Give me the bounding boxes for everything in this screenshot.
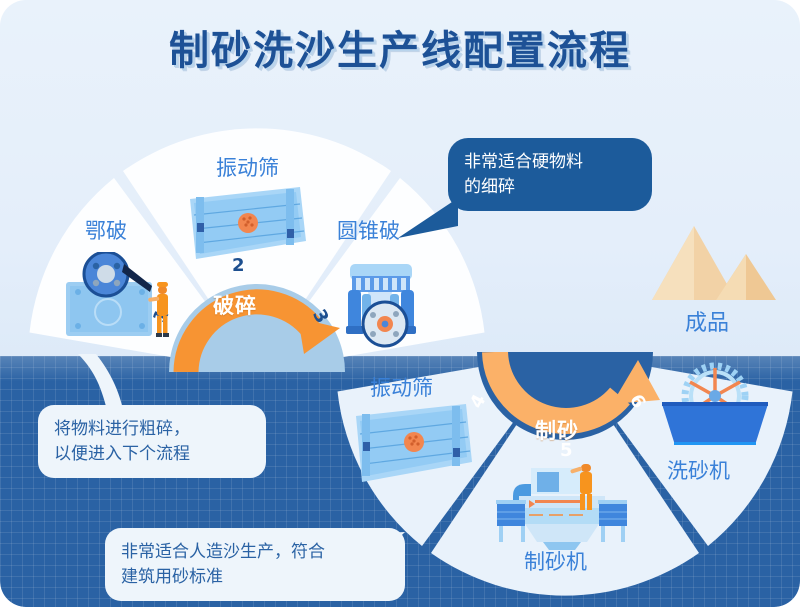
vibrating-screen-icon: [186, 185, 310, 267]
sandmaking-arc-label: 制砂: [535, 415, 579, 445]
cone-crusher-icon: [328, 254, 430, 352]
washer-tank: [662, 404, 768, 442]
callout-cone-crusher-tail: [398, 196, 458, 240]
step-label-3: 圆锥破: [337, 215, 400, 245]
callout-sand-maker-tail: [365, 530, 409, 582]
sand-pile-icon: [650, 222, 780, 308]
jaw-crusher-icon: [62, 252, 184, 356]
sand-washer-icon: [656, 360, 774, 446]
step-label-6: 洗砂机: [667, 455, 730, 485]
step-label-4: 振动筛: [370, 372, 433, 402]
step-label-1: 鄂破: [85, 215, 127, 245]
crushing-arc-label: 破碎: [213, 290, 257, 320]
vibrating-screen-icon-2: [352, 400, 476, 500]
callout-jaw-crusher-note: 将物料进行粗碎， 以便进入下个流程: [38, 405, 266, 478]
callout-cone-crusher-note: 非常适合硬物料 的细碎: [448, 138, 652, 211]
page-title: 制砂洗沙生产线配置流程: [0, 18, 800, 76]
sand-maker-icon: [495, 462, 627, 552]
product-label: 成品: [685, 305, 729, 337]
infographic-poster: 制砂洗沙生产线配置流程 鄂破 振动筛 圆锥破 1 2 3 破碎: [0, 0, 800, 607]
callout-sand-maker-note: 非常适合人造沙生产，符合 建筑用砂标准: [105, 528, 405, 601]
callout-jaw-crusher-tail: [62, 352, 132, 414]
step-label-2: 振动筛: [216, 152, 279, 182]
